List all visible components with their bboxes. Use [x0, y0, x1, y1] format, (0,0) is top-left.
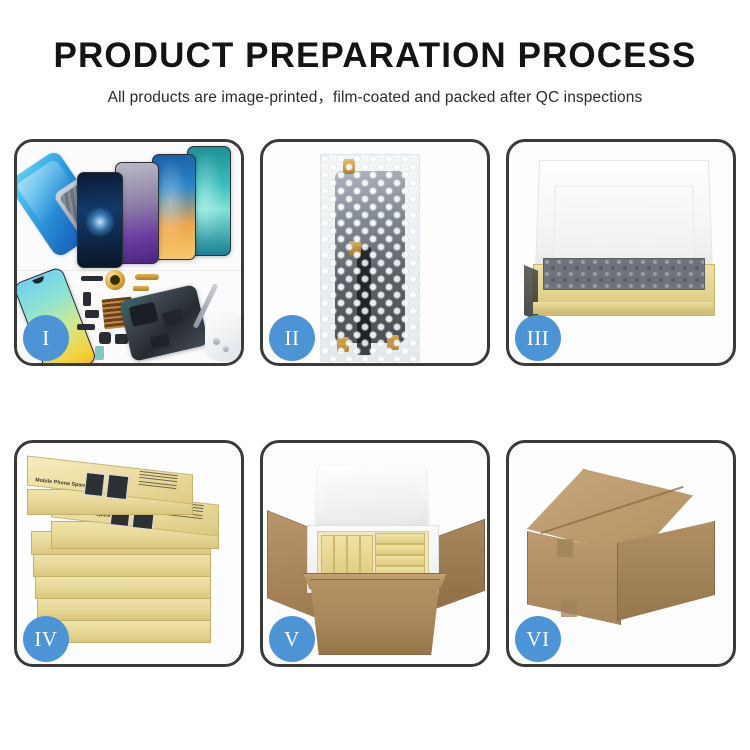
process-steps-grid: I II: [14, 139, 736, 667]
step-badge-1: I: [23, 315, 69, 361]
page-subtitle: All products are image-printed，film-coat…: [0, 85, 750, 107]
bubble-texture: [321, 155, 419, 361]
page-title: PRODUCT PREPARATION PROCESS: [0, 34, 750, 78]
box-front-lip: [533, 302, 713, 314]
packed-box-1: [321, 535, 334, 579]
stacked-box-bottom-3: [35, 575, 211, 599]
bubble-wrap-bag: [320, 154, 420, 362]
phone-tempered-glass-front: [77, 172, 123, 268]
part-connector-2: [85, 310, 99, 318]
carton-tape-upper: [557, 539, 573, 557]
grey-antistatic-foam: [543, 258, 705, 290]
step-panel-6: VI: [506, 440, 736, 667]
part-flex-cable-2: [133, 286, 149, 291]
packed-box-3: [347, 535, 360, 579]
part-connector-1: [83, 292, 91, 306]
step-panel-3: III: [506, 139, 736, 366]
step-panel-2: II: [260, 139, 490, 366]
step-badge-4: IV: [23, 616, 69, 662]
step-panel-5: V: [260, 440, 490, 667]
part-screw-1: [213, 338, 220, 345]
packed-box-4: [360, 535, 373, 579]
header: PRODUCT PREPARATION PROCESS All products…: [0, 34, 750, 107]
stacked-box-bottom-4: [37, 597, 211, 621]
packed-box-7: [375, 555, 425, 566]
foam-cooler-lid: [315, 465, 428, 529]
packed-box-2: [334, 535, 347, 579]
speaker-module-part: [105, 270, 125, 290]
step-panel-4: Mobile Phone Spare Parts Mobile Phone Sp…: [14, 440, 244, 667]
packed-box-6: [375, 544, 425, 555]
part-button-flex: [77, 324, 95, 330]
step-badge-6: VI: [515, 616, 561, 662]
carton-body: [301, 579, 449, 655]
carton-tape-lower: [561, 601, 577, 617]
step-badge-3: III: [515, 315, 561, 361]
product-preparation-process-infographic: PRODUCT PREPARATION PROCESS All products…: [0, 0, 750, 750]
gloved-hand: [205, 314, 241, 360]
packed-box-5: [375, 533, 425, 544]
step-badge-2: II: [269, 315, 315, 361]
stacked-box-bottom-2: [33, 553, 211, 577]
step-badge-5: V: [269, 616, 315, 662]
part-strip-1: [81, 276, 103, 281]
part-screw-2: [223, 346, 229, 352]
step-panel-1: I: [14, 139, 244, 366]
rear-box-screen-image-2: [106, 474, 130, 500]
part-flex-cable-1: [135, 274, 159, 280]
part-sim-tray: [95, 346, 104, 360]
part-camera-module: [99, 332, 111, 344]
rear-box-screen-image-1: [84, 472, 105, 497]
